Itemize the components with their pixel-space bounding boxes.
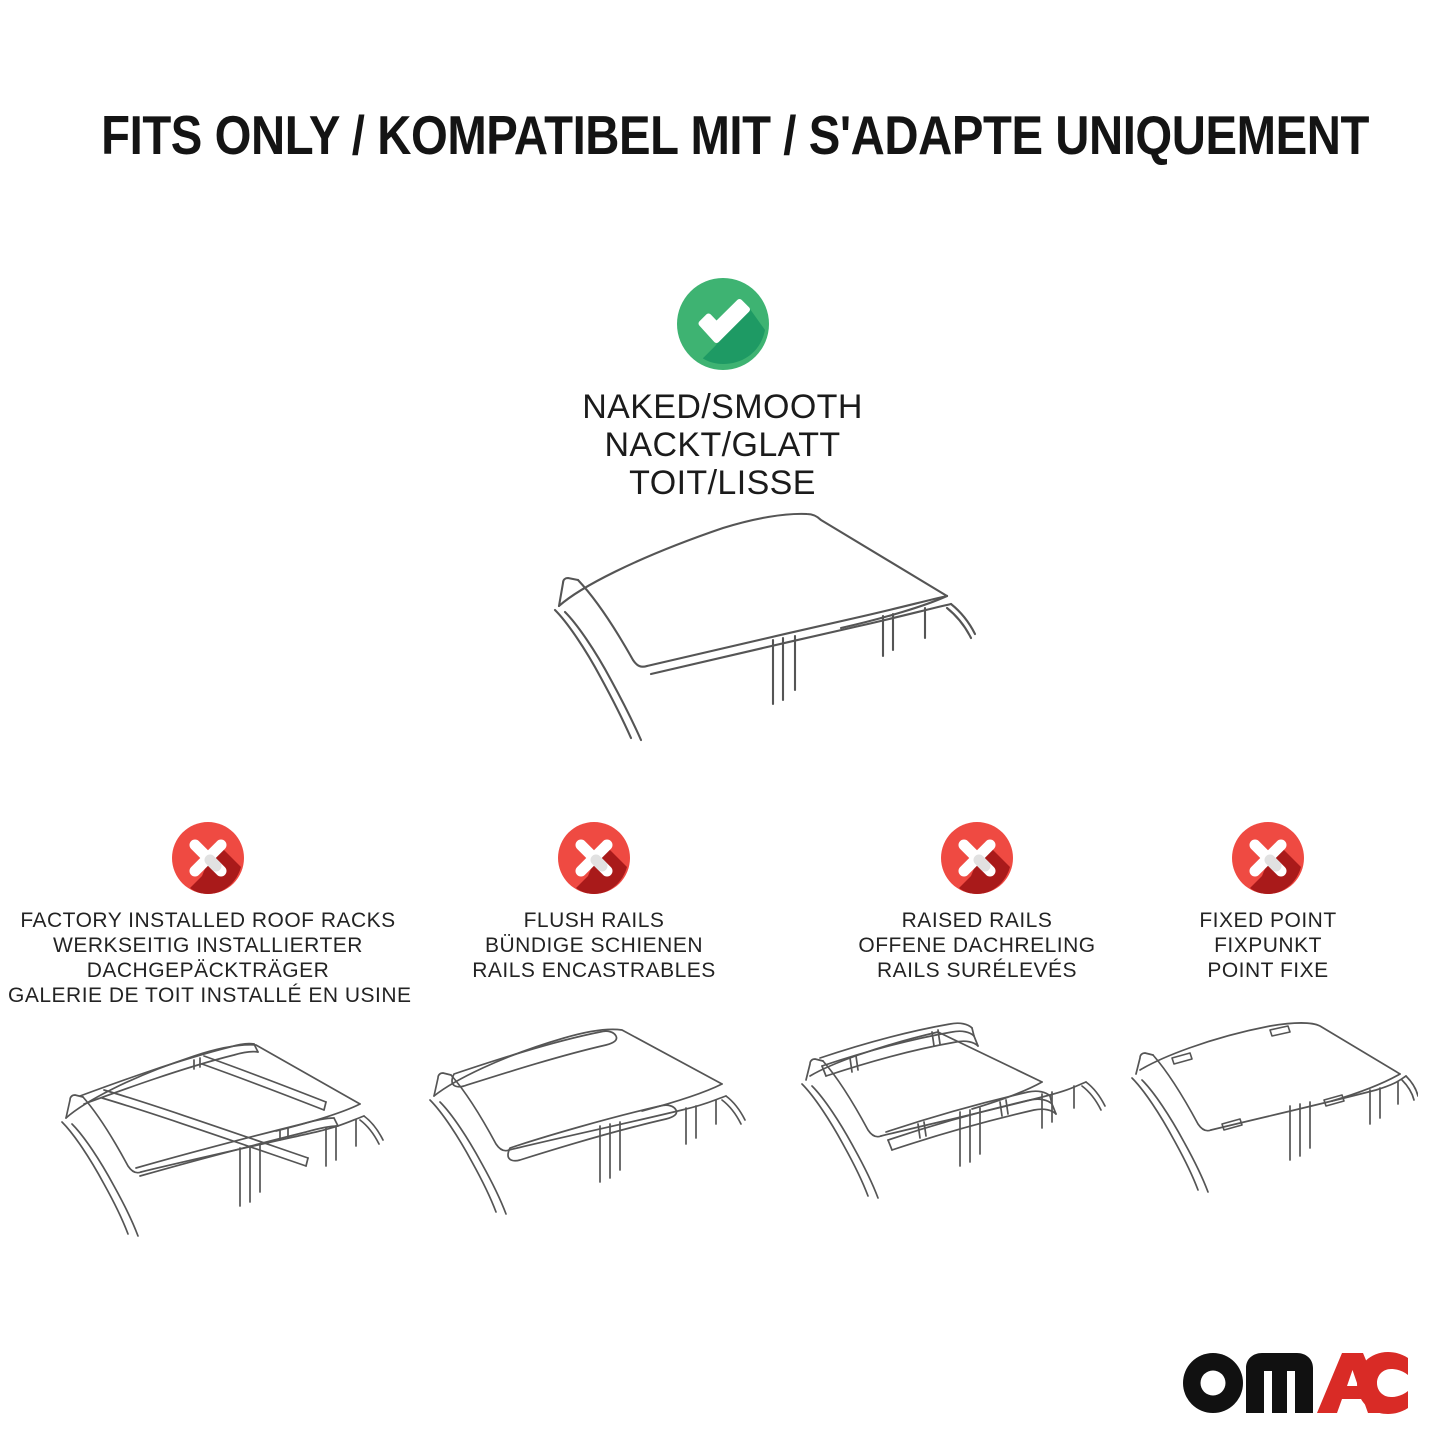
logo-letter-o [1183, 1353, 1243, 1413]
label-line-3: RAILS SURÉLEVÉS [792, 958, 1162, 983]
car-roof-raised-rails-illustration [792, 1020, 1162, 1250]
x-circle-svg [941, 822, 1013, 894]
check-circle-icon [677, 278, 769, 370]
car-roof-factory-racks-illustration [8, 1020, 408, 1250]
label-line-1: FLUSH RAILS [410, 908, 778, 933]
incompatible-item-factory-racks: FACTORY INSTALLED ROOF RACKS WERKSEITIG … [8, 822, 408, 1008]
x-circle-svg [1232, 822, 1304, 894]
x-circle-icon [1232, 822, 1304, 894]
check-circle-svg [677, 278, 769, 370]
incompatible-item-flush-rails: FLUSH RAILS BÜNDIGE SCHIENEN RAILS ENCAS… [410, 822, 778, 983]
x-circle-icon [558, 822, 630, 894]
label-line-2: OFFENE DACHRELING [792, 933, 1162, 958]
incompatible-section: FACTORY INSTALLED ROOF RACKS WERKSEITIG … [0, 822, 1445, 1262]
incompatible-labels-raised-rails: RAISED RAILS OFFENE DACHRELING RAILS SUR… [792, 908, 1162, 983]
incompatible-labels-flush-rails: FLUSH RAILS BÜNDIGE SCHIENEN RAILS ENCAS… [410, 908, 778, 983]
car-roof-fixed-point-illustration [1150, 1020, 1386, 1250]
roof-naked-smooth-svg [455, 488, 1015, 768]
omac-logo-svg [1182, 1352, 1408, 1414]
incompatible-item-raised-rails: RAISED RAILS OFFENE DACHRELING RAILS SUR… [792, 822, 1162, 983]
compatible-label-line-2: NACKT/GLATT [0, 426, 1445, 464]
roof-raised-rails-svg [792, 1020, 1162, 1250]
car-roof-flush-rails-illustration [410, 1020, 778, 1250]
label-line-3: POINT FIXE [1150, 958, 1386, 983]
label-line-3: RAILS ENCASTRABLES [410, 958, 778, 983]
label-line-4: GALERIE DE TOIT INSTALLÉ EN USINE [8, 983, 408, 1008]
label-line-2: BÜNDIGE SCHIENEN [410, 933, 778, 958]
label-line-1: RAISED RAILS [792, 908, 1162, 933]
omac-logo [1182, 1352, 1408, 1414]
x-circle-svg [558, 822, 630, 894]
compatible-label-line-1: NAKED/SMOOTH [0, 388, 1445, 426]
label-line-1: FACTORY INSTALLED ROOF RACKS [8, 908, 408, 933]
compatible-section: NAKED/SMOOTH NACKT/GLATT TOIT/LISSE [0, 278, 1445, 502]
roof-factory-racks-svg [8, 1020, 408, 1250]
label-line-2: WERKSEITIG INSTALLIERTER [8, 933, 408, 958]
logo-letter-m [1246, 1353, 1313, 1413]
car-roof-naked-smooth-illustration [455, 488, 1015, 768]
page-title: FITS ONLY / KOMPATIBEL MIT / S'ADAPTE UN… [101, 104, 1344, 166]
label-line-1: FIXED POINT [1150, 908, 1386, 933]
label-line-3: DACHGEPÄCKTRÄGER [8, 958, 408, 983]
incompatible-labels-fixed-point: FIXED POINT FIXPUNKT POINT FIXE [1150, 908, 1386, 983]
roof-fixed-point-svg [1118, 1020, 1418, 1250]
x-circle-svg [172, 822, 244, 894]
incompatible-labels-factory-racks: FACTORY INSTALLED ROOF RACKS WERKSEITIG … [8, 908, 408, 1008]
compatible-labels: NAKED/SMOOTH NACKT/GLATT TOIT/LISSE [0, 388, 1445, 502]
roof-flush-rails-svg [410, 1020, 778, 1250]
label-line-2: FIXPUNKT [1150, 933, 1386, 958]
incompatible-item-fixed-point: FIXED POINT FIXPUNKT POINT FIXE [1150, 822, 1386, 983]
x-circle-icon [941, 822, 1013, 894]
x-circle-icon [172, 822, 244, 894]
